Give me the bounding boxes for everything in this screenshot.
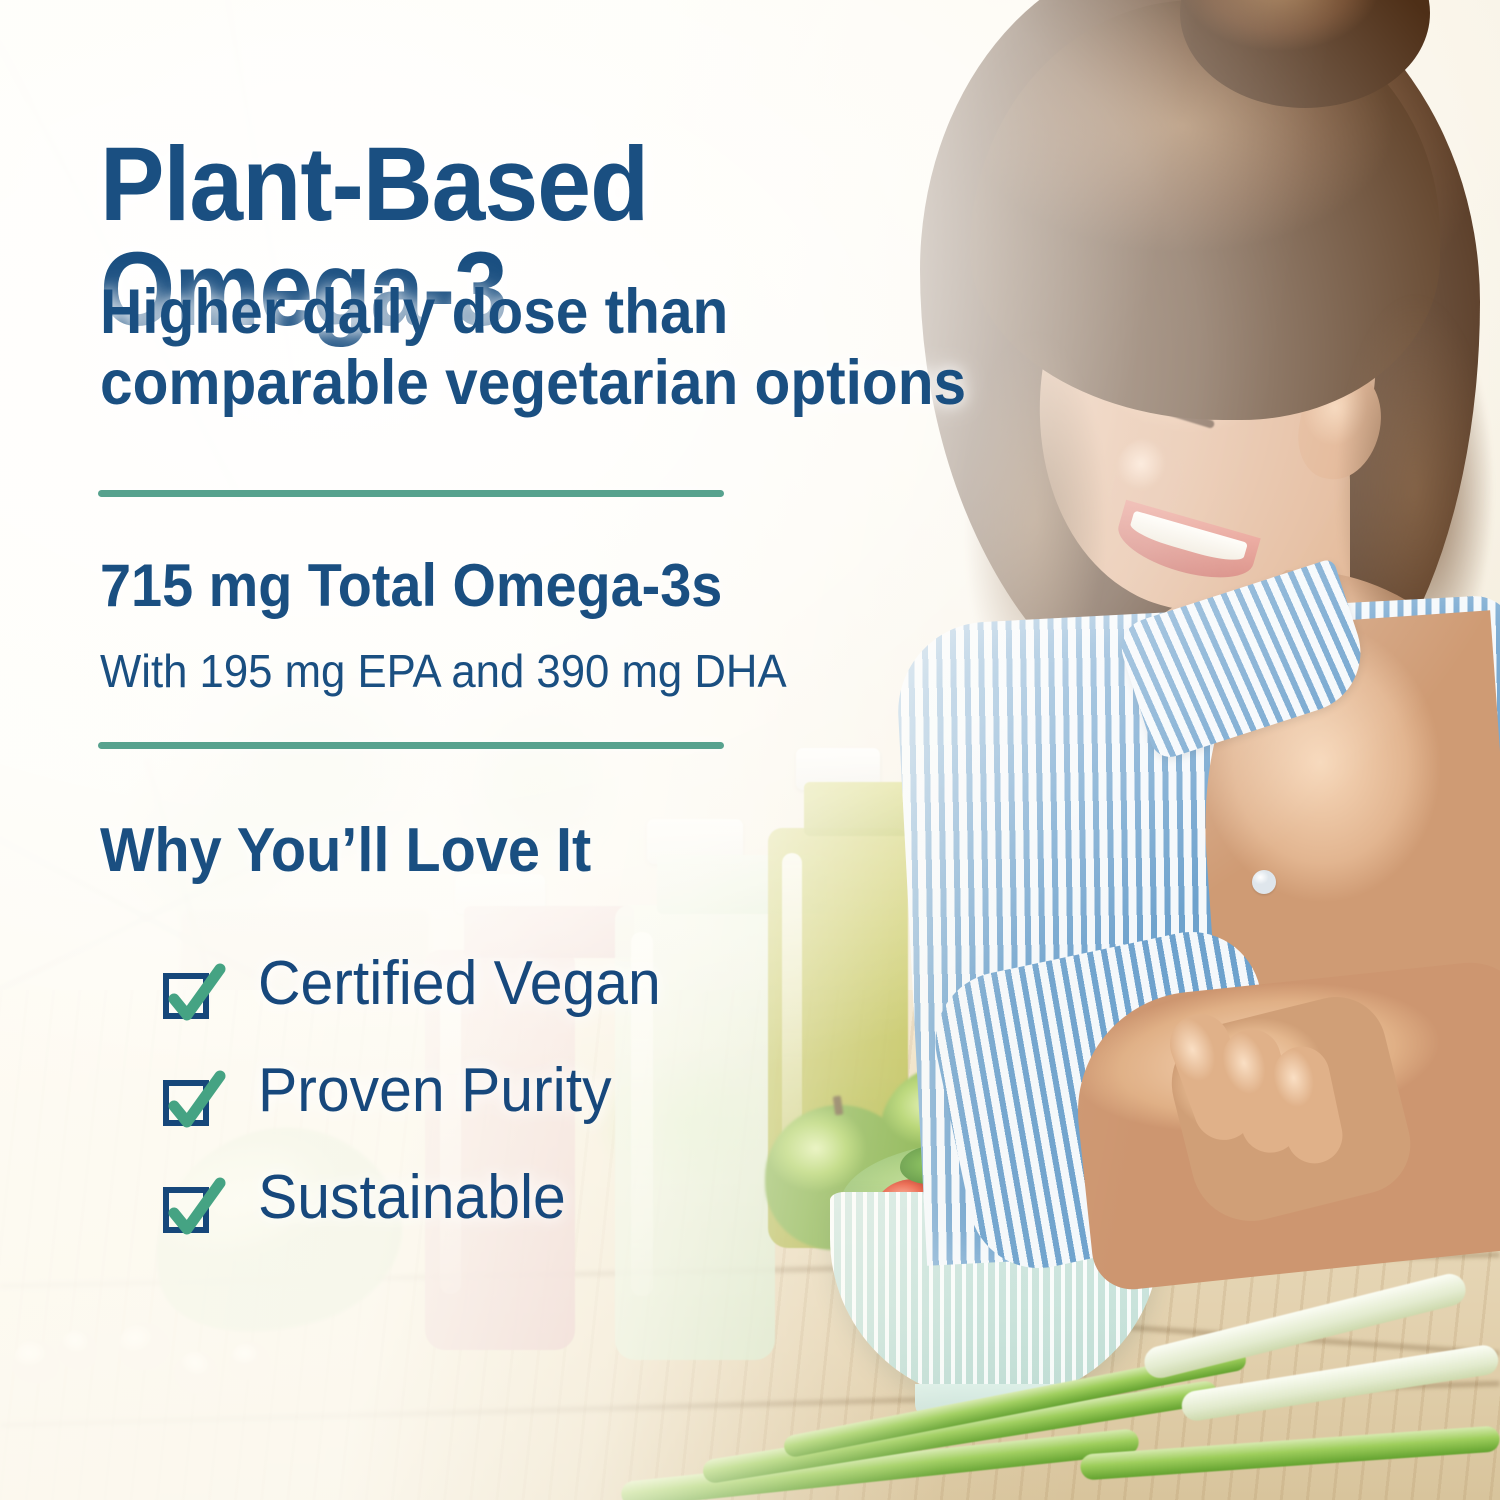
divider-bottom (98, 742, 724, 749)
benefit-label: Sustainable (258, 1167, 566, 1229)
total-omega3-amount: 715 mg Total Omega-3s (100, 556, 722, 616)
divider-top (98, 490, 724, 497)
benefit-label: Certified Vegan (258, 953, 661, 1015)
subheadline: Higher daily dose than comparable vegeta… (100, 277, 974, 418)
benefit-label: Proven Purity (258, 1060, 612, 1122)
copy-layer: Plant-Based Omega-3 Higher daily dose th… (0, 0, 1500, 1500)
epa-dha-detail: With 195 mg EPA and 390 mg DHA (100, 648, 787, 694)
marketing-banner: Plant-Based Omega-3 Higher daily dose th… (0, 0, 1500, 1500)
benefits-heading: Why You’ll Love It (100, 820, 591, 882)
checkbox-checked-icon (163, 1187, 209, 1233)
checkbox-checked-icon (163, 1080, 209, 1126)
checkbox-checked-icon (163, 973, 209, 1019)
